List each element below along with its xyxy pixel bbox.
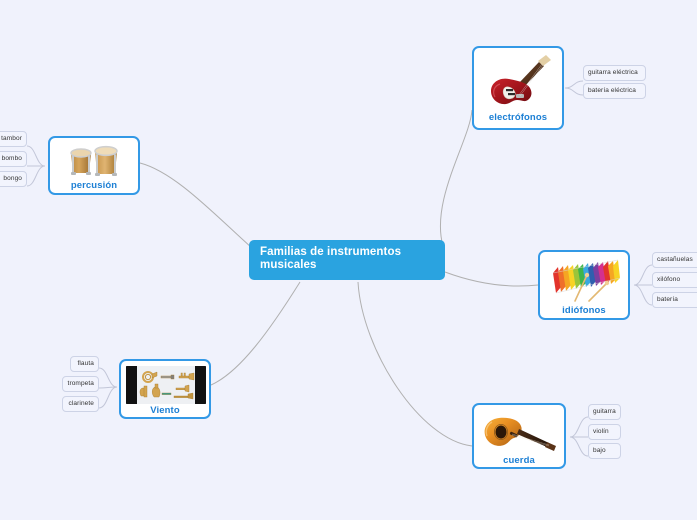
branch-node-idiofonos[interactable]: idiófonos <box>538 250 630 320</box>
branch-label-idiofonos: idiófonos <box>545 304 623 317</box>
xylophone-photo <box>545 257 625 304</box>
branch-node-electrofonos[interactable]: electrófonos <box>472 46 564 130</box>
branch-node-viento[interactable]: Viento <box>119 359 211 419</box>
leaf-bombo[interactable]: bombo <box>0 151 27 167</box>
branch-label-viento: Viento <box>126 404 204 417</box>
leaf-tambor[interactable]: tambor <box>0 131 27 147</box>
leaf-flauta[interactable]: flauta <box>70 356 99 372</box>
branch-node-cuerda[interactable]: cuerda <box>472 403 566 469</box>
leaf-guitarra-electrica[interactable]: guitarra eléctrica <box>583 65 646 81</box>
branch-label-cuerda: cuerda <box>479 454 559 467</box>
leaf-bongo[interactable]: bongo <box>0 171 27 187</box>
central-node-line-1: Familias de instrumentos <box>260 246 435 259</box>
wind-instruments-photo <box>126 366 206 404</box>
central-node[interactable]: Familias de instrumentos musicales <box>249 240 445 280</box>
leaf-castanuelas[interactable]: castañuelas <box>652 252 697 268</box>
acoustic-guitar-photo <box>479 410 561 454</box>
central-node-line-2: musicales <box>260 259 435 272</box>
leaf-clarinete[interactable]: clarinete <box>62 396 99 412</box>
leaf-violin[interactable]: violín <box>588 424 621 440</box>
bongo-drums-photo <box>55 143 135 179</box>
leaf-xilofono[interactable]: xilófono <box>652 272 697 288</box>
leaf-bateria[interactable]: batería <box>652 292 697 308</box>
electric-guitar-photo <box>479 53 559 111</box>
branch-node-percusion[interactable]: percusión <box>48 136 140 195</box>
branch-label-electrofonos: electrófonos <box>479 111 557 124</box>
leaf-trompeta[interactable]: trompeta <box>62 376 99 392</box>
mindmap-canvas: Familias de instrumentos musicales <box>0 0 697 520</box>
leaf-bajo[interactable]: bajo <box>588 443 621 459</box>
branch-label-percusion: percusión <box>55 179 133 192</box>
leaf-guitarra[interactable]: guitarra <box>588 404 621 420</box>
leaf-bateria-electrica[interactable]: batería eléctrica <box>583 83 646 99</box>
